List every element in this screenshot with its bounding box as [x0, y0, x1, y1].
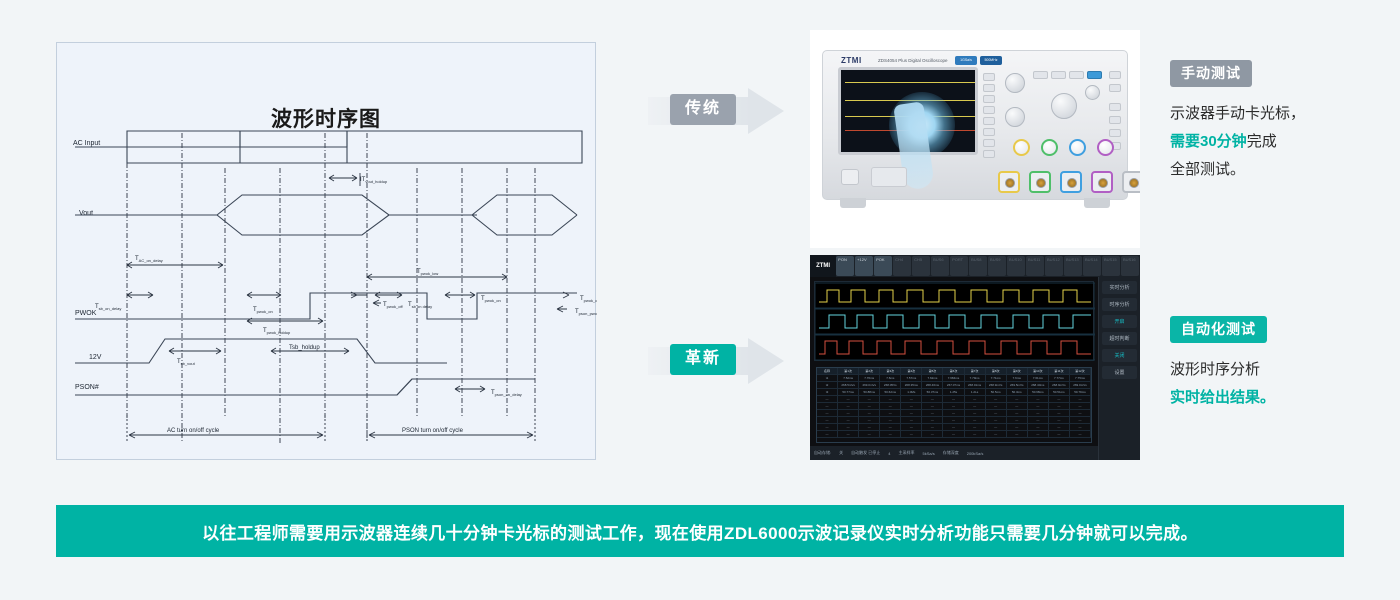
table-cell: —: [1049, 396, 1070, 402]
signal-label-vout: Vout: [79, 210, 93, 217]
scope-side-button[interactable]: [983, 117, 995, 125]
table-row: —————————————: [817, 396, 1091, 403]
manual-test-description: 示波器手动卡光标， 需要30分钟完成 全部测试。: [1170, 100, 1395, 183]
annotation-t-pwok-holdup: Tpwok_holdup: [263, 328, 291, 335]
auto-test-description: 波形时序分析 实时给出结果。: [1170, 356, 1395, 412]
annotation-t-sb-vout: Tsb_vout: [177, 359, 196, 366]
scope-badge-bandwidth: 500MHz: [980, 56, 1002, 65]
table-header-cell: 第7次: [965, 368, 986, 374]
table-cell: 1.2Ls: [965, 389, 986, 395]
annotation-t-pwok-off-2: Tpwok_off: [580, 296, 597, 303]
table-cell: t2: [817, 382, 838, 388]
table-header-cell: 第6次: [943, 368, 964, 374]
table-cell: —: [1070, 417, 1091, 423]
table-cell: 50.77ms: [838, 389, 859, 395]
table-cell: —: [922, 403, 943, 409]
table-cell: —: [986, 403, 1007, 409]
waveform-trace-pok: [819, 341, 1091, 354]
table-cell: —: [986, 410, 1007, 416]
annotation-t-pson-on-delay: Tpson_on_delay: [491, 390, 522, 397]
table-row: t2268.5mVs269.0mVs268.05Vs268.35ms268.46…: [817, 382, 1091, 389]
scope-knob-trigger[interactable]: [1085, 85, 1100, 100]
panel-item-enable[interactable]: 开启: [1102, 315, 1137, 328]
annotation-t-sb-on-delay-2: Tsb on delay: [408, 302, 432, 309]
arrow-innovation: 革新: [648, 338, 788, 384]
oscilloscope-body: ZTMI ZDS4054 Plus Digital Oscilloscope 1…: [822, 50, 1128, 200]
table-header-cell: 第1次: [838, 368, 859, 374]
scope-button-utility[interactable]: [1109, 71, 1121, 79]
table-cell: —: [901, 410, 922, 416]
table-cell: 50.37ms: [922, 389, 943, 395]
software-screenshot: ZTMI PON +12V POK CH4 CH5 BUS6 PORT BUS8…: [810, 255, 1140, 460]
software-tab-bus16[interactable]: BUS16: [1121, 256, 1139, 276]
status-trigger-mode: 自动触发 已停止: [851, 450, 880, 456]
table-header-cell: 第8次: [986, 368, 1007, 374]
table-cell: —: [922, 417, 943, 423]
table-cell: —: [986, 424, 1007, 430]
table-cell: 7.57ms: [901, 375, 922, 381]
annotation-t-sb-holdup: Tsb_holdup: [289, 345, 320, 351]
table-cell: —: [922, 424, 943, 430]
table-cell: 7.6ms: [1007, 375, 1028, 381]
software-tab-bus13[interactable]: BUS13: [1064, 256, 1082, 276]
signal-label-12v: 12V: [89, 354, 102, 361]
annotation-t-pwok-off-1: Tpwok_off: [383, 302, 403, 309]
table-cell: —: [901, 431, 922, 437]
table-cell: 7.62ms: [922, 375, 943, 381]
manual-line-2: 需要30分钟完成: [1170, 128, 1395, 156]
table-cell: —: [986, 396, 1007, 402]
table-cell: —: [1049, 410, 1070, 416]
table-cell: —: [1007, 403, 1028, 409]
scope-side-button[interactable]: [983, 128, 995, 136]
table-cell: —: [1070, 410, 1091, 416]
software-logo: ZTMI: [810, 255, 836, 277]
scope-channel-knob-2[interactable]: [1041, 139, 1058, 156]
table-row: —————————————: [817, 417, 1091, 424]
annotation-t-pwok-low: Tpwok_low: [417, 269, 438, 276]
manual-line-2-rest: 完成: [1247, 133, 1277, 150]
table-header-cell: 名称: [817, 368, 838, 374]
software-tab-bus9[interactable]: BUS9: [988, 256, 1006, 276]
scope-brand-label: ZTMI: [841, 56, 862, 65]
table-cell: 7.71ms: [986, 375, 1007, 381]
panel-item-timeout-check[interactable]: 超时判断: [1102, 332, 1137, 345]
table-cell: —: [965, 417, 986, 423]
software-tab-bus15[interactable]: BUS15: [1102, 256, 1120, 276]
table-cell: —: [922, 396, 943, 402]
table-cell: —: [859, 403, 880, 409]
status-samplerate-label: 主采样率: [898, 450, 914, 456]
table-cell: —: [1028, 410, 1049, 416]
table-cell: —: [943, 410, 964, 416]
table-cell: —: [901, 417, 922, 423]
table-cell: —: [1028, 417, 1049, 423]
table-cell: —: [943, 424, 964, 430]
table-cell: —: [880, 403, 901, 409]
table-header-cell: 第3次: [880, 368, 901, 374]
software-tab-bus6[interactable]: BUS6: [931, 256, 949, 276]
table-row: —————————————: [817, 403, 1091, 410]
software-status-bar: 自动存储: 关 自动触发 已停止 4 主采样率 5kSa/s 存储深度 200k…: [810, 446, 1098, 460]
table-row: —————————————: [817, 424, 1091, 431]
table-cell: 268.9mVs: [986, 382, 1007, 388]
scope-bnc-ch3[interactable]: [1060, 171, 1082, 193]
status-depth-value: 200kSa/s: [967, 451, 984, 456]
status-channel-count: 4: [888, 451, 890, 456]
table-cell: 7.76ms: [859, 375, 880, 381]
table-cell: 50.79ms: [1070, 389, 1091, 395]
power-button-icon[interactable]: [841, 169, 859, 185]
bottom-banner: 以往工程师需要用示波器连续几十分钟卡光标的测试工作，现在使用ZDL6000示波记…: [56, 505, 1344, 557]
table-cell: —: [922, 431, 943, 437]
panel-item-timing-analysis[interactable]: 时序分析: [1102, 298, 1137, 311]
badge-auto-test: 自动化测试: [1170, 316, 1267, 343]
cycle-label-ac: AC turn on/off cycle: [167, 428, 220, 434]
software-channel-tabbar: ZTMI PON +12V POK CH4 CH5 BUS6 PORT BUS8…: [810, 255, 1140, 277]
scope-knob-multipurpose[interactable]: [1051, 93, 1077, 119]
scope-trace-ch1: [845, 82, 977, 83]
table-cell: —: [838, 424, 859, 430]
scope-foot-right: [1084, 198, 1110, 208]
scope-feet: [840, 198, 1110, 208]
annotation-t-pwok-on-1: Tpwok_on: [253, 307, 273, 314]
table-cell: —: [880, 431, 901, 437]
scope-button-save[interactable]: [1109, 84, 1121, 92]
table-cell: —: [838, 431, 859, 437]
arrow-traditional: 传统: [648, 88, 788, 134]
table-cell: —: [965, 431, 986, 437]
auto-highlight: 实时给出结果。: [1170, 389, 1275, 406]
table-cell: —: [922, 410, 943, 416]
table-cell: —: [1007, 396, 1028, 402]
software-tab-bus12[interactable]: BUS12: [1045, 256, 1063, 276]
table-cell: —: [1028, 424, 1049, 430]
table-cell: 50.5ms: [986, 389, 1007, 395]
table-cell: —: [817, 396, 838, 402]
table-cell: —: [859, 417, 880, 423]
table-cell: 267.07ms: [943, 382, 964, 388]
bottom-banner-text: 以往工程师需要用示波器连续几十分钟卡光标的测试工作，现在使用ZDL6000示波记…: [202, 519, 1198, 544]
annotation-t-pson-pwok: Tpson_pwok: [575, 309, 597, 316]
table-cell: —: [880, 410, 901, 416]
table-header-cell: 第2次: [859, 368, 880, 374]
table-cell: 50.88ms: [859, 389, 880, 395]
table-cell: —: [859, 396, 880, 402]
scope-foot-left: [840, 198, 866, 208]
oscilloscope-photo: ZTMI ZDS4054 Plus Digital Oscilloscope 1…: [810, 30, 1140, 248]
scope-button-single[interactable]: [1051, 71, 1066, 79]
scope-side-button[interactable]: [983, 84, 995, 92]
usb-port-icon[interactable]: [871, 167, 907, 187]
scope-channel-knob-3[interactable]: [1069, 139, 1086, 156]
signal-label-pson: PSON#: [75, 384, 99, 391]
scope-model-label: ZDS4054 Plus Digital Oscilloscope: [878, 58, 948, 63]
table-cell: —: [1070, 396, 1091, 402]
table-header-row: 名称 第1次 第2次 第3次 第4次 第5次 第6次 第7次 第8次 第9次 第…: [817, 368, 1091, 375]
table-cell: 7.79ms: [965, 375, 986, 381]
status-samplerate-value: 5kSa/s: [922, 451, 934, 456]
table-cell: 269.0mVs: [859, 382, 880, 388]
timing-diagram-svg: AC Input Vout ITvout_holdup TAC_on_delay…: [57, 43, 597, 461]
table-header-cell: 第12次: [1070, 368, 1091, 374]
manual-highlight: 需要30分钟: [1170, 133, 1247, 150]
badge-manual-test: 手动测试: [1170, 60, 1252, 87]
table-cell: 1.0Ms: [901, 389, 922, 395]
table-header-cell: 第4次: [901, 368, 922, 374]
table-cell: —: [1007, 424, 1028, 430]
signal-label-pwok: PWOK: [75, 310, 97, 317]
arrow-head-icon: [748, 88, 784, 134]
scope-bnc-ch4[interactable]: [1091, 171, 1113, 193]
manual-line-1: 示波器手动卡光标，: [1170, 100, 1395, 128]
scope-bnc-ch2[interactable]: [1029, 171, 1051, 193]
table-cell: —: [1028, 396, 1049, 402]
software-tab-bus11[interactable]: BUS11: [1026, 256, 1044, 276]
table-cell: 50.68ms: [1028, 389, 1049, 395]
table-cell: —: [943, 396, 964, 402]
table-cell: —: [838, 410, 859, 416]
table-row: t350.77ms50.88ms50.62ms1.0Ms50.37ms1.25s…: [817, 389, 1091, 396]
table-cell: —: [1007, 410, 1028, 416]
manual-line-3: 全部测试。: [1170, 156, 1395, 184]
table-cell: —: [817, 410, 838, 416]
scope-button-power-active[interactable]: [1087, 71, 1102, 79]
annotation-t-sb-on-delay-1: Tsb_on_delay: [95, 304, 121, 311]
scope-badge-sample-rate: 1GSa/s: [955, 56, 977, 65]
table-cell: —: [986, 431, 1007, 437]
table-cell: 7.52ms: [838, 375, 859, 381]
table-row: —————————————: [817, 431, 1091, 438]
cycle-label-pson: PSON turn on/off cycle: [402, 428, 464, 434]
timing-diagram-panel: 波形时序图 AC Input Vout: [56, 42, 596, 460]
table-cell: 7.6ms: [880, 375, 901, 381]
scope-knob-vertical[interactable]: [1005, 107, 1025, 127]
table-cell: 7.61ms: [1028, 375, 1049, 381]
software-tab-bus10[interactable]: BUS10: [1007, 256, 1025, 276]
auto-line-2: 实时给出结果。: [1170, 384, 1395, 412]
scope-button-measure[interactable]: [1109, 103, 1121, 111]
badge-innovation: 革新: [670, 344, 736, 375]
table-header-cell: 第9次: [1007, 368, 1028, 374]
waveform-svg: [815, 282, 1095, 362]
annotation-t-ac-on-delay: TAC_on_delay: [135, 256, 163, 263]
scope-side-button[interactable]: [983, 139, 995, 147]
table-cell: 50.62ms: [880, 389, 901, 395]
table-cell: —: [859, 424, 880, 430]
table-cell: —: [1049, 403, 1070, 409]
status-autosave-label: 自动存储:: [814, 450, 831, 456]
software-tab-bus8[interactable]: BUS8: [969, 256, 987, 276]
table-cell: —: [1070, 403, 1091, 409]
table-cell: —: [986, 417, 1007, 423]
scope-side-button[interactable]: [983, 106, 995, 114]
table-cell: —: [880, 396, 901, 402]
table-cell: 1.25s: [943, 389, 964, 395]
software-tab-pon[interactable]: PON: [836, 256, 854, 276]
table-header-cell: 第5次: [922, 368, 943, 374]
table-header-cell: 第11次: [1049, 368, 1070, 374]
table-cell: —: [1028, 431, 1049, 437]
table-cell: —: [817, 403, 838, 409]
software-measurement-table: 名称 第1次 第2次 第3次 第4次 第5次 第6次 第7次 第8次 第9次 第…: [816, 367, 1092, 443]
table-header-cell: 第10次: [1028, 368, 1049, 374]
software-right-panel: 实时分析 时序分析 开启 超时判断 关闭 设置: [1098, 277, 1140, 460]
table-cell: —: [943, 403, 964, 409]
table-cell: 268.01ms: [965, 382, 986, 388]
arrow-head-icon: [748, 338, 784, 384]
table-cell: —: [838, 396, 859, 402]
table-cell: 269.0mVs: [1070, 382, 1091, 388]
table-cell: —: [943, 431, 964, 437]
table-cell: —: [817, 431, 838, 437]
table-cell: —: [838, 417, 859, 423]
waveform-trace-12v: [819, 315, 1091, 328]
side-block-auto: 自动化测试 波形时序分析 实时给出结果。: [1170, 316, 1395, 412]
status-autosave-value: 关: [839, 450, 843, 456]
table-cell: —: [943, 417, 964, 423]
scope-button-cursor[interactable]: [1109, 116, 1121, 124]
table-cell: 268.05Vs: [880, 382, 901, 388]
scope-channel-knob-4[interactable]: [1097, 139, 1114, 156]
table-cell: —: [965, 396, 986, 402]
software-tab-12v[interactable]: +12V: [855, 256, 873, 276]
signal-label-ac-input: AC Input: [73, 140, 100, 147]
scope-button-display[interactable]: [1109, 129, 1121, 137]
scope-bnc-ch1[interactable]: [998, 171, 1020, 193]
table-cell: —: [901, 424, 922, 430]
table-cell: —: [1049, 431, 1070, 437]
annotation-t-vout-holdup: ITvout_holdup: [360, 177, 388, 184]
table-cell: 268.46ms: [922, 382, 943, 388]
scope-channel-knob-1[interactable]: [1013, 139, 1030, 156]
table-cell: t1: [817, 375, 838, 381]
scope-side-button[interactable]: [983, 73, 995, 81]
table-row: t17.52ms7.76ms7.6ms7.57ms7.62ms7.684ms7.…: [817, 375, 1091, 382]
table-cell: —: [1070, 424, 1091, 430]
table-body: t17.52ms7.76ms7.6ms7.57ms7.62ms7.684ms7.…: [817, 375, 1091, 438]
waveform-trace-pon: [819, 290, 1091, 302]
table-cell: —: [1049, 417, 1070, 423]
table-cell: —: [1070, 431, 1091, 437]
table-cell: 268.40ms: [1028, 382, 1049, 388]
table-cell: —: [965, 424, 986, 430]
table-cell: 7.75ms: [1070, 375, 1091, 381]
table-cell: —: [817, 424, 838, 430]
table-cell: —: [1007, 417, 1028, 423]
software-waveform-area: [814, 281, 1094, 361]
software-tab-bus14[interactable]: BUS14: [1083, 256, 1101, 276]
table-cell: —: [1007, 431, 1028, 437]
scope-button-run[interactable]: [1033, 71, 1048, 79]
scope-side-button[interactable]: [983, 150, 995, 158]
panel-item-disable[interactable]: 关闭: [1102, 349, 1137, 362]
annotation-t-pwok-on-2: Tpwok_on: [481, 296, 501, 303]
table-cell: 268.9mVs: [1049, 382, 1070, 388]
software-tab-pok[interactable]: POK: [874, 256, 892, 276]
table-cell: 7.77ms: [1049, 375, 1070, 381]
software-tab-ch5[interactable]: CH5: [912, 256, 930, 276]
table-cell: 50.51ms: [1049, 389, 1070, 395]
table-cell: —: [880, 424, 901, 430]
scope-bnc-aux[interactable]: [1122, 171, 1140, 193]
side-block-manual: 手动测试 示波器手动卡光标， 需要30分钟完成 全部测试。: [1170, 60, 1395, 183]
table-cell: 268.35ms: [901, 382, 922, 388]
table-cell: —: [1049, 424, 1070, 430]
table-row: —————————————: [817, 410, 1091, 417]
table-cell: 269.5mVs: [1007, 382, 1028, 388]
scope-knob-horizontal[interactable]: [1005, 73, 1025, 93]
table-cell: —: [965, 410, 986, 416]
table-cell: —: [838, 403, 859, 409]
table-cell: —: [859, 410, 880, 416]
table-cell: —: [901, 396, 922, 402]
software-tab-port[interactable]: PORT: [950, 256, 968, 276]
panel-item-settings[interactable]: 设置: [1102, 366, 1137, 379]
auto-line-1: 波形时序分析: [1170, 356, 1395, 384]
table-cell: —: [965, 403, 986, 409]
table-cell: —: [901, 403, 922, 409]
scope-button-auto[interactable]: [1069, 71, 1084, 79]
scope-side-button[interactable]: [983, 95, 995, 103]
software-tab-ch4[interactable]: CH4: [893, 256, 911, 276]
badge-traditional: 传统: [670, 94, 736, 125]
table-cell: —: [880, 417, 901, 423]
table-cell: t3: [817, 389, 838, 395]
table-cell: —: [859, 431, 880, 437]
table-cell: —: [817, 417, 838, 423]
table-cell: 7.684ms: [943, 375, 964, 381]
table-cell: —: [1028, 403, 1049, 409]
panel-item-realtime-analysis[interactable]: 实时分析: [1102, 281, 1137, 294]
table-cell: 50.3ms: [1007, 389, 1028, 395]
table-cell: 268.5mVs: [838, 382, 859, 388]
status-depth-label: 存储深度: [943, 450, 959, 456]
